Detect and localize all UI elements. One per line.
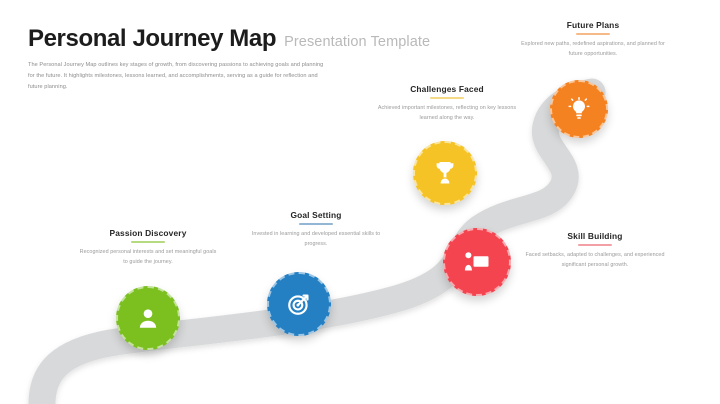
milestone-title: Challenges Faced <box>374 84 520 94</box>
title-row: Personal Journey Map Presentation Templa… <box>28 26 458 51</box>
presentation-board-icon <box>463 249 491 275</box>
milestone-bubble[interactable] <box>413 141 477 205</box>
milestone-title: Passion Discovery <box>78 228 218 238</box>
milestone-node-passion-discovery[interactable] <box>116 286 180 350</box>
caption-goal-setting: Goal Setting Invested in learning and de… <box>250 210 382 249</box>
title-underline <box>131 241 165 243</box>
caption-future-plans: Future Plans Explored new paths, redefin… <box>518 20 668 59</box>
milestone-bubble[interactable] <box>116 286 180 350</box>
journey-map-slide: Personal Journey Map Presentation Templa… <box>0 0 720 404</box>
milestone-description: Explored new paths, redefined aspiration… <box>518 39 668 59</box>
user-icon <box>135 305 161 331</box>
target-icon <box>286 291 312 317</box>
title-underline <box>576 33 610 35</box>
lightbulb-icon <box>567 97 591 121</box>
milestone-description: Achieved important milestones, reflectin… <box>374 103 520 123</box>
title-underline <box>299 223 333 225</box>
milestone-bubble[interactable] <box>443 228 511 296</box>
trophy-icon <box>433 160 457 186</box>
milestone-bubble[interactable] <box>550 80 608 138</box>
caption-challenges-faced: Challenges Faced Achieved important mile… <box>374 84 520 123</box>
title-underline <box>430 97 464 99</box>
intro-paragraph: The Personal Journey Map outlines key st… <box>28 60 328 93</box>
milestone-node-skill-building[interactable] <box>443 228 511 296</box>
milestone-description: Invested in learning and developed essen… <box>250 229 382 249</box>
milestone-node-goal-setting[interactable] <box>267 272 331 336</box>
milestone-bubble[interactable] <box>267 272 331 336</box>
milestone-title: Future Plans <box>518 20 668 30</box>
page-subtitle: Presentation Template <box>284 34 430 50</box>
milestone-title: Skill Building <box>524 231 666 241</box>
milestone-description: Recognized personal interests and set me… <box>78 247 218 267</box>
title-underline <box>578 244 612 246</box>
milestone-node-challenges-faced[interactable] <box>413 141 477 205</box>
caption-skill-building: Skill Building Faced setbacks, adapted t… <box>524 231 666 270</box>
page-title: Personal Journey Map <box>28 26 276 51</box>
milestone-title: Goal Setting <box>250 210 382 220</box>
milestone-description: Faced setbacks, adapted to challenges, a… <box>524 250 666 270</box>
caption-passion-discovery: Passion Discovery Recognized personal in… <box>78 228 218 267</box>
milestone-node-future-plans[interactable] <box>550 80 608 138</box>
